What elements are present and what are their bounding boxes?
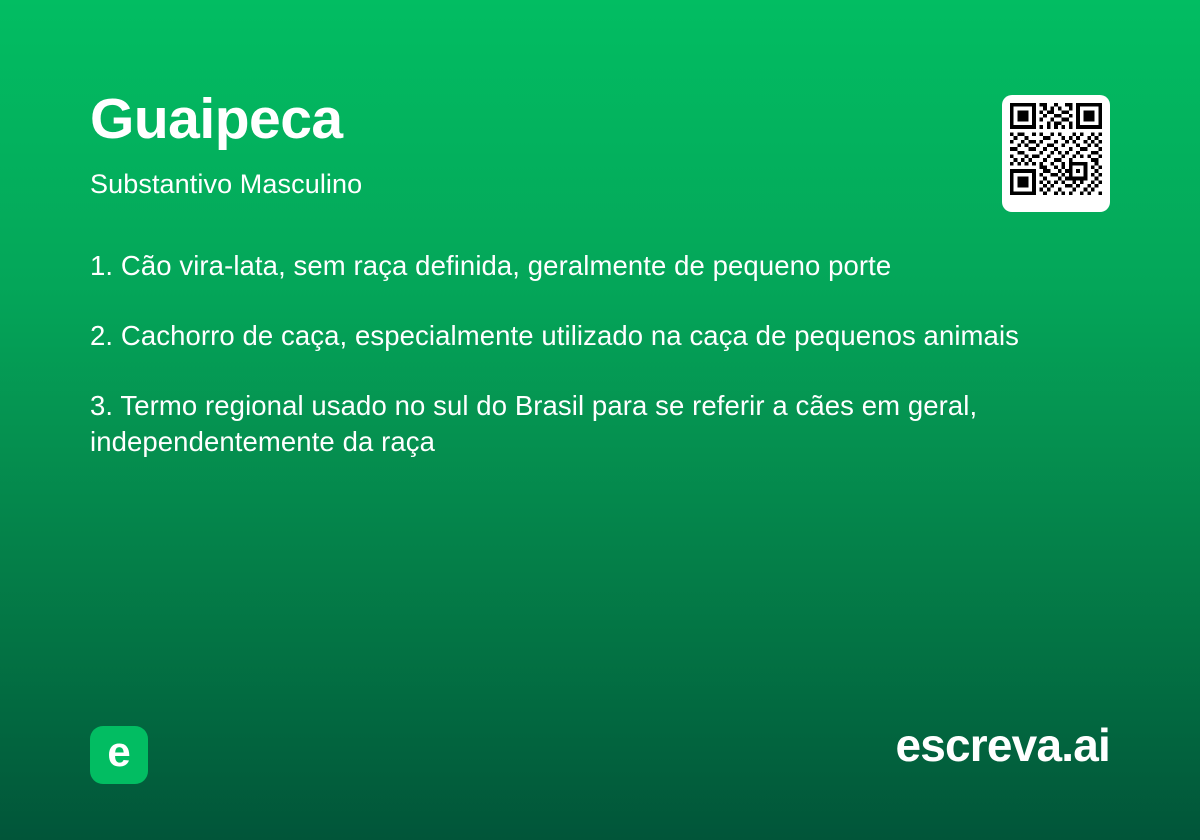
dictionary-card: Guaipeca Substantivo Masculino	[0, 0, 1200, 840]
definition-item: 1. Cão vira-lata, sem raça definida, ger…	[90, 248, 1075, 284]
page-title: Guaipeca	[90, 90, 343, 149]
definition-item: 2. Cachorro de caça, especialmente utili…	[90, 318, 1075, 354]
brand-logo-letter: e	[107, 731, 130, 773]
part-of-speech-label: Substantivo Masculino	[90, 168, 362, 200]
definition-item: 3. Termo regional usado no sul do Brasil…	[90, 388, 1075, 460]
qr-code-icon	[1010, 103, 1102, 195]
brand-logo[interactable]: e	[90, 726, 148, 784]
definition-list: 1. Cão vira-lata, sem raça definida, ger…	[90, 248, 1075, 460]
brand-name: escreva.ai	[895, 722, 1110, 768]
qr-code-container[interactable]	[1002, 95, 1110, 212]
